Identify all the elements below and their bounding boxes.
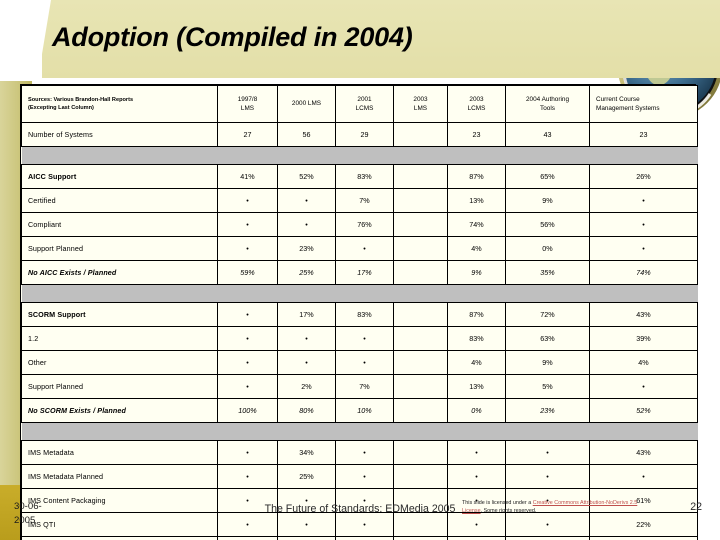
- table-cell: •: [218, 303, 278, 327]
- table-cell: 63%: [506, 327, 590, 351]
- table-cell: [394, 123, 448, 147]
- table-cell: 56%: [506, 213, 590, 237]
- table-cell: 23: [448, 123, 506, 147]
- table-cell: 83%: [448, 327, 506, 351]
- table-cell: [394, 303, 448, 327]
- table-cell: •: [336, 327, 394, 351]
- table-cell: •: [218, 513, 278, 537]
- table-cell: [394, 465, 448, 489]
- table-cell: 23%: [506, 399, 590, 423]
- hc5l2: Tools: [506, 104, 589, 113]
- slide-date-line2: 2005: [14, 514, 74, 528]
- table-cell: •: [278, 537, 336, 540]
- table-cell: [394, 261, 448, 285]
- row-label: AICC Support: [22, 165, 218, 189]
- header-col-current-cms: Current Course Management Systems: [590, 86, 698, 123]
- table-cell: 83%: [336, 303, 394, 327]
- hc6l2: Management Systems: [596, 104, 697, 113]
- header-col-1997-lms: 1997/8 LMS: [218, 86, 278, 123]
- table-cell: •: [278, 489, 336, 513]
- hc3l1: 2003: [394, 95, 447, 104]
- table-cell: 5%: [506, 375, 590, 399]
- table-row: Certified••7%13%9%•: [22, 189, 698, 213]
- table-cell: [394, 213, 448, 237]
- table-cell: •: [336, 513, 394, 537]
- table-cell: •: [336, 351, 394, 375]
- header-sources-line1: Sources: Various Brandon-Hall Reports: [28, 96, 217, 104]
- row-label: Number of Systems: [22, 123, 218, 147]
- row-label: 1.2: [22, 327, 218, 351]
- page-title: Adoption (Compiled in 2004): [52, 22, 413, 53]
- hc2l2: LCMS: [336, 104, 393, 113]
- table-cell: 34%: [278, 441, 336, 465]
- hc5l1: 2004 Authoring: [506, 95, 589, 104]
- table-cell: 7%: [336, 189, 394, 213]
- table-cell: 74%: [590, 261, 698, 285]
- table-cell: 22%: [590, 513, 698, 537]
- table-cell: •: [278, 513, 336, 537]
- table-cell: 4%: [590, 351, 698, 375]
- hc2l1: 2001: [336, 95, 393, 104]
- table-cell: •: [336, 465, 394, 489]
- table-row: Support Planned•23%•4%0%•: [22, 237, 698, 261]
- table-cell: •: [218, 489, 278, 513]
- table-cell: •: [448, 441, 506, 465]
- table-cell: [394, 489, 448, 513]
- header-col-2000-lms: 2000 LMS: [278, 86, 336, 123]
- row-label: Compliant: [22, 213, 218, 237]
- table-cell: •: [448, 537, 506, 540]
- table-cell: [394, 351, 448, 375]
- table-spacer-row: [22, 147, 698, 165]
- table-cell: •: [218, 375, 278, 399]
- table-cell: •: [218, 189, 278, 213]
- table-cell: [394, 327, 448, 351]
- table-cell: [394, 375, 448, 399]
- table-cell: •: [278, 327, 336, 351]
- table-cell: 41%: [218, 165, 278, 189]
- table-cell: 87%: [448, 303, 506, 327]
- table-cell: [394, 237, 448, 261]
- table-cell: 25%: [278, 465, 336, 489]
- table-cell: [394, 537, 448, 540]
- table-spacer-row: [22, 423, 698, 441]
- row-label: No SCORM Exists / Planned: [22, 399, 218, 423]
- table-cell: •: [590, 375, 698, 399]
- hc6l1: Current Course: [596, 95, 697, 104]
- table-cell: •: [506, 513, 590, 537]
- table-cell: •: [218, 465, 278, 489]
- table-cell: 17%: [336, 261, 394, 285]
- hc0l1: 1997/8: [218, 95, 277, 104]
- table-cell: •: [336, 237, 394, 261]
- hc3l2: LMS: [394, 104, 447, 113]
- table-cell: •: [218, 537, 278, 540]
- table-cell: 9%: [506, 189, 590, 213]
- hc0l2: LMS: [218, 104, 277, 113]
- table-cell: 43%: [590, 441, 698, 465]
- row-label: Other: [22, 351, 218, 375]
- table-cell: 52%: [590, 399, 698, 423]
- band-divider: [0, 78, 32, 81]
- table-cell: 25%: [278, 261, 336, 285]
- table-cell: 4%: [448, 351, 506, 375]
- adoption-table-wrap: Sources: Various Brandon-Hall Reports (E…: [20, 84, 696, 540]
- table-cell: 4%: [448, 237, 506, 261]
- table-cell: 43: [506, 123, 590, 147]
- row-label: SCORM Support: [22, 303, 218, 327]
- table-cell: •: [506, 441, 590, 465]
- table-cell: 9%: [506, 351, 590, 375]
- table-cell: 10%: [336, 399, 394, 423]
- slide-date: 30-06- 2005: [14, 500, 74, 528]
- table-cell: 83%: [336, 165, 394, 189]
- row-label: IMS Metadata: [22, 441, 218, 465]
- table-row: IMS (not specified)•••••9%: [22, 537, 698, 540]
- table-cell: •: [590, 237, 698, 261]
- table-cell: 59%: [218, 261, 278, 285]
- table-row: AICC Support41%52%83%87%65%26%: [22, 165, 698, 189]
- table-cell: •: [590, 189, 698, 213]
- table-cell: •: [278, 351, 336, 375]
- table-cell: 23%: [278, 237, 336, 261]
- table-cell: 7%: [336, 375, 394, 399]
- slide: Adoption (Compiled in 2004) Sources: Var…: [0, 0, 720, 540]
- header-sources-line2: (Excepting Last Column): [28, 104, 217, 112]
- table-row: Compliant••76%74%56%•: [22, 213, 698, 237]
- table-cell: 39%: [590, 327, 698, 351]
- table-cell: 27: [218, 123, 278, 147]
- table-cell: [394, 165, 448, 189]
- table-spacer-cell: [22, 285, 698, 303]
- table-cell: 76%: [336, 213, 394, 237]
- adoption-table: Sources: Various Brandon-Hall Reports (E…: [21, 85, 698, 540]
- table-cell: 29: [336, 123, 394, 147]
- table-row: 1.2•••83%63%39%: [22, 327, 698, 351]
- table-row: No SCORM Exists / Planned100%80%10%0%23%…: [22, 399, 698, 423]
- table-cell: 52%: [278, 165, 336, 189]
- table-row: Support Planned•2%7%13%5%•: [22, 375, 698, 399]
- table-cell: [394, 441, 448, 465]
- table-cell: •: [336, 489, 394, 513]
- table-row: IMS Metadata Planned•25%••••: [22, 465, 698, 489]
- table-cell: •: [218, 327, 278, 351]
- table-cell: 9%: [448, 261, 506, 285]
- table-cell: •: [448, 513, 506, 537]
- table-header-row: Sources: Various Brandon-Hall Reports (E…: [22, 86, 698, 123]
- header-col-2004-authoring-tools: 2004 Authoring Tools: [506, 86, 590, 123]
- row-label: Support Planned: [22, 375, 218, 399]
- table-cell: •: [336, 537, 394, 540]
- row-label: IMS Metadata Planned: [22, 465, 218, 489]
- table-cell: •: [506, 465, 590, 489]
- table-cell: [394, 513, 448, 537]
- table-cell: 17%: [278, 303, 336, 327]
- table-cell: •: [590, 465, 698, 489]
- table-row: Other•••4%9%4%: [22, 351, 698, 375]
- table-cell: •: [218, 213, 278, 237]
- license-suffix: . Some rights reserved.: [481, 508, 537, 514]
- table-cell: 2%: [278, 375, 336, 399]
- table-cell: 74%: [448, 213, 506, 237]
- table-cell: [394, 399, 448, 423]
- table-cell: 100%: [218, 399, 278, 423]
- slide-date-line1: 30-06-: [14, 500, 74, 514]
- table-body: Number of Systems275629234323AICC Suppor…: [22, 123, 698, 540]
- table-cell: •: [218, 441, 278, 465]
- table-cell: 56: [278, 123, 336, 147]
- hc4l1: 2003: [448, 95, 505, 104]
- hc4l2: LCMS: [448, 104, 505, 113]
- table-cell: •: [590, 213, 698, 237]
- table-head: Sources: Various Brandon-Hall Reports (E…: [22, 86, 698, 123]
- table-cell: •: [506, 537, 590, 540]
- table-cell: 13%: [448, 189, 506, 213]
- table-cell: 23: [590, 123, 698, 147]
- table-cell: 9%: [590, 537, 698, 540]
- row-label: IMS (not specified): [22, 537, 218, 540]
- table-row: SCORM Support•17%83%87%72%43%: [22, 303, 698, 327]
- table-cell: 0%: [506, 237, 590, 261]
- table-row: IMS Metadata•34%•••43%: [22, 441, 698, 465]
- license-notice: This slide is licensed under a Creative …: [462, 499, 640, 515]
- table-cell: •: [278, 189, 336, 213]
- row-label: No AICC Exists / Planned: [22, 261, 218, 285]
- table-spacer-cell: [22, 147, 698, 165]
- table-cell: 35%: [506, 261, 590, 285]
- table-cell: 72%: [506, 303, 590, 327]
- table-cell: 43%: [590, 303, 698, 327]
- table-cell: •: [278, 213, 336, 237]
- table-cell: 13%: [448, 375, 506, 399]
- page-number: 22: [690, 501, 702, 513]
- header-col-2001-lcms: 2001 LCMS: [336, 86, 394, 123]
- table-cell: 87%: [448, 165, 506, 189]
- table-spacer-cell: [22, 423, 698, 441]
- row-label: Support Planned: [22, 237, 218, 261]
- table-cell: •: [336, 441, 394, 465]
- row-label: Certified: [22, 189, 218, 213]
- table-row: Number of Systems275629234323: [22, 123, 698, 147]
- table-cell: 0%: [448, 399, 506, 423]
- table-cell: 65%: [506, 165, 590, 189]
- table-cell: •: [218, 351, 278, 375]
- header-col-2003-lcms: 2003 LCMS: [448, 86, 506, 123]
- table-row: IMS QTI•••••22%: [22, 513, 698, 537]
- table-cell: 80%: [278, 399, 336, 423]
- banner-edge: [38, 0, 42, 78]
- table-cell: •: [218, 237, 278, 261]
- header-col-2003-lms: 2003 LMS: [394, 86, 448, 123]
- table-cell: [394, 189, 448, 213]
- table-row: No AICC Exists / Planned59%25%17%9%35%74…: [22, 261, 698, 285]
- table-cell: 26%: [590, 165, 698, 189]
- license-prefix: This slide is licensed under a: [462, 500, 533, 506]
- hc1l1: 2000 LMS: [278, 99, 335, 108]
- header-sources: Sources: Various Brandon-Hall Reports (E…: [22, 86, 218, 123]
- table-spacer-row: [22, 285, 698, 303]
- table-cell: •: [448, 465, 506, 489]
